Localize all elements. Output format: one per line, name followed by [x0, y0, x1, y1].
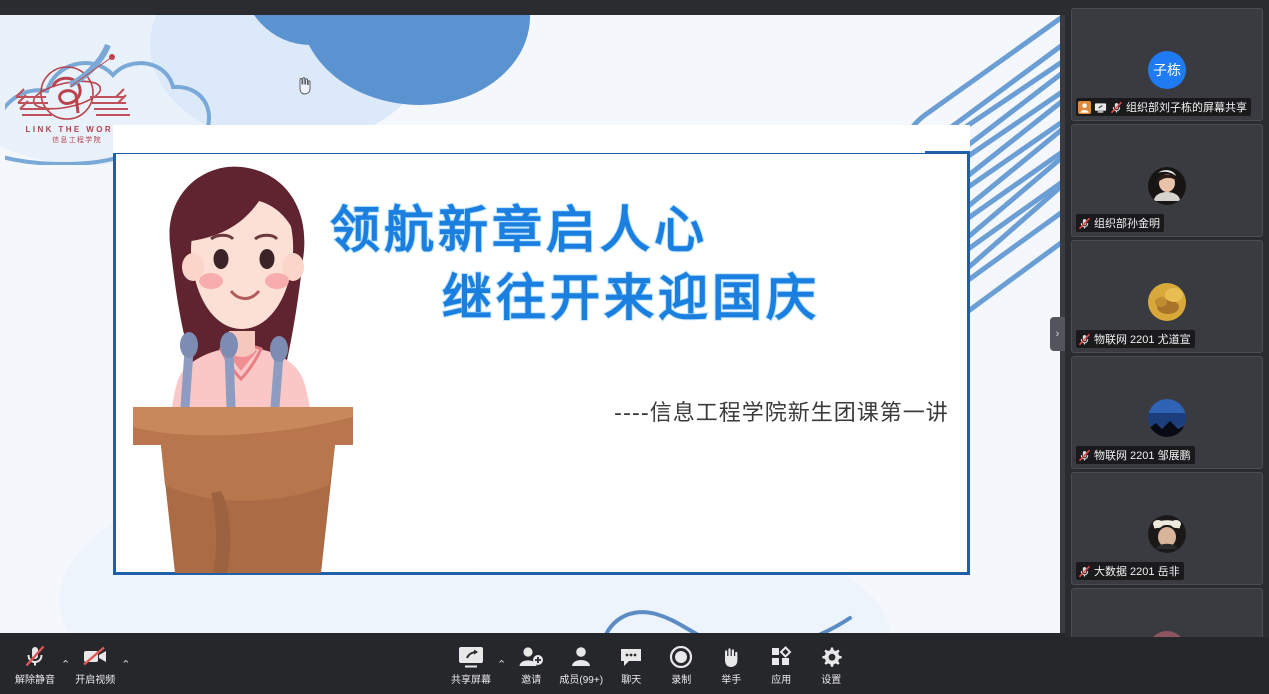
- record-icon: [668, 642, 694, 668]
- participant-name-bar: 组织部孙金明: [1076, 214, 1164, 232]
- toolbar-label: 成员(99+): [559, 671, 603, 686]
- participant-tile[interactable]: 物联网 2201 邹展鹏: [1071, 356, 1263, 469]
- settings-gear-icon: [818, 642, 844, 668]
- chevron-up-icon-audio[interactable]: ⌃: [61, 658, 70, 671]
- toolbar-button-settings[interactable]: 设置: [806, 642, 856, 686]
- toolbar-button-apps[interactable]: 应用: [756, 642, 806, 686]
- mic-muted-icon: [1078, 565, 1091, 578]
- avatar-photo: [1148, 283, 1186, 321]
- collapse-panel-button[interactable]: ›: [1050, 317, 1065, 351]
- toolbar-label: 设置: [821, 671, 841, 686]
- toolbar-button-unmute[interactable]: 解除静音: [10, 642, 60, 686]
- meeting-toolbar: 解除静音 ⌃ 开启视频 ⌃: [0, 637, 1269, 694]
- participant-tile[interactable]: 组织部孙金明: [1071, 124, 1263, 237]
- toolbar-button-invite[interactable]: 邀请: [506, 642, 556, 686]
- toolbar-label: 共享屏幕: [451, 671, 491, 686]
- mic-muted-icon: [1110, 101, 1123, 114]
- toolbar-center-group: 共享屏幕 ⌃ 邀请: [446, 642, 856, 686]
- avatar: [1148, 167, 1186, 205]
- raise-hand-icon: [718, 642, 744, 668]
- chat-icon: [618, 642, 644, 668]
- apps-icon: [768, 642, 794, 668]
- toolbar-button-record[interactable]: 录制: [656, 642, 706, 686]
- toolbar-label: 录制: [671, 671, 691, 686]
- camera-off-icon: [82, 642, 108, 668]
- participant-name: 大数据 2201 岳非: [1094, 563, 1180, 579]
- participant-name-bar: 物联网 2201 尤道宣: [1076, 330, 1195, 348]
- participant-name: 物联网 2201 邹展鹏: [1094, 447, 1191, 463]
- toolbar-label: 解除静音: [15, 671, 55, 686]
- toolbar-left-group: 解除静音 ⌃ 开启视频 ⌃: [10, 642, 130, 686]
- participant-rail[interactable]: 子栋 组织部刘子栋的屏幕共享: [1065, 0, 1269, 637]
- slide-title-line-2: 继往开来迎国庆: [442, 273, 950, 323]
- mic-muted-icon: [1078, 333, 1091, 346]
- avatar: [1148, 399, 1186, 437]
- screen-share-icon: [1094, 101, 1107, 114]
- members-icon: [568, 642, 594, 668]
- slide-title: 领航新章启人心 继往开来迎国庆: [330, 205, 950, 323]
- screen-share-stage[interactable]: LINK THE WORLD 信息工程学院: [0, 15, 1065, 633]
- avatar-initials: 子栋: [1148, 51, 1186, 89]
- participant-name: 组织部孙金明: [1094, 215, 1160, 231]
- avatar-photo: [1148, 167, 1186, 205]
- meeting-window: LINK THE WORLD 信息工程学院: [0, 0, 1269, 694]
- avatar: 子栋: [1148, 51, 1186, 89]
- avatar-photo: [1148, 515, 1186, 553]
- avatar-photo: [1148, 399, 1186, 437]
- mic-muted-icon: [1078, 449, 1091, 462]
- toolbar-button-members[interactable]: 成员(99+): [556, 642, 606, 686]
- toolbar-button-start-video[interactable]: 开启视频: [70, 642, 120, 686]
- host-icon: [1078, 101, 1091, 114]
- curve-decoration: [600, 600, 860, 633]
- chevron-up-icon-video[interactable]: ⌃: [121, 658, 130, 671]
- share-screen-icon: [458, 642, 484, 668]
- stage-top-strip: [0, 0, 1065, 15]
- toolbar-label: 开启视频: [75, 671, 115, 686]
- invite-user-icon: [518, 642, 544, 668]
- toolbar-label: 邀请: [521, 671, 541, 686]
- avatar: [1148, 283, 1186, 321]
- slide-top-notch: [113, 125, 925, 153]
- toolbar-label: 聊天: [621, 671, 641, 686]
- participant-name-bar: 物联网 2201 邹展鹏: [1076, 446, 1195, 464]
- slide-title-line-1: 领航新章启人心: [330, 205, 950, 255]
- toolbar-button-raise-hand[interactable]: 举手: [706, 642, 756, 686]
- avatar: [1148, 515, 1186, 553]
- participant-name: 组织部刘子栋的屏幕共享: [1126, 99, 1247, 115]
- toolbar-button-share-screen[interactable]: 共享屏幕: [446, 642, 496, 686]
- participant-name-bar: 组织部刘子栋的屏幕共享: [1076, 98, 1251, 116]
- toolbar-label: 应用: [771, 671, 791, 686]
- speaker-illustration: [125, 155, 355, 575]
- toolbar-label: 举手: [721, 671, 741, 686]
- chevron-up-icon-share[interactable]: ⌃: [497, 658, 506, 671]
- participant-tile[interactable]: 大数据 2201 岳非: [1071, 472, 1263, 585]
- slide-subtitle: ----信息工程学院新生团课第一讲: [614, 395, 949, 427]
- toolbar-button-chat[interactable]: 聊天: [606, 642, 656, 686]
- participant-name-bar: 大数据 2201 岳非: [1076, 562, 1184, 580]
- participant-tile[interactable]: 物联网 2201 尤道宣: [1071, 240, 1263, 353]
- mic-muted-icon: [1078, 217, 1091, 230]
- participant-name: 物联网 2201 尤道宣: [1094, 331, 1191, 347]
- pointer-hand-cursor: [296, 75, 312, 95]
- participant-tile[interactable]: [1071, 588, 1263, 637]
- mic-muted-icon: [23, 642, 47, 668]
- participant-tile[interactable]: 子栋 组织部刘子栋的屏幕共享: [1071, 8, 1263, 121]
